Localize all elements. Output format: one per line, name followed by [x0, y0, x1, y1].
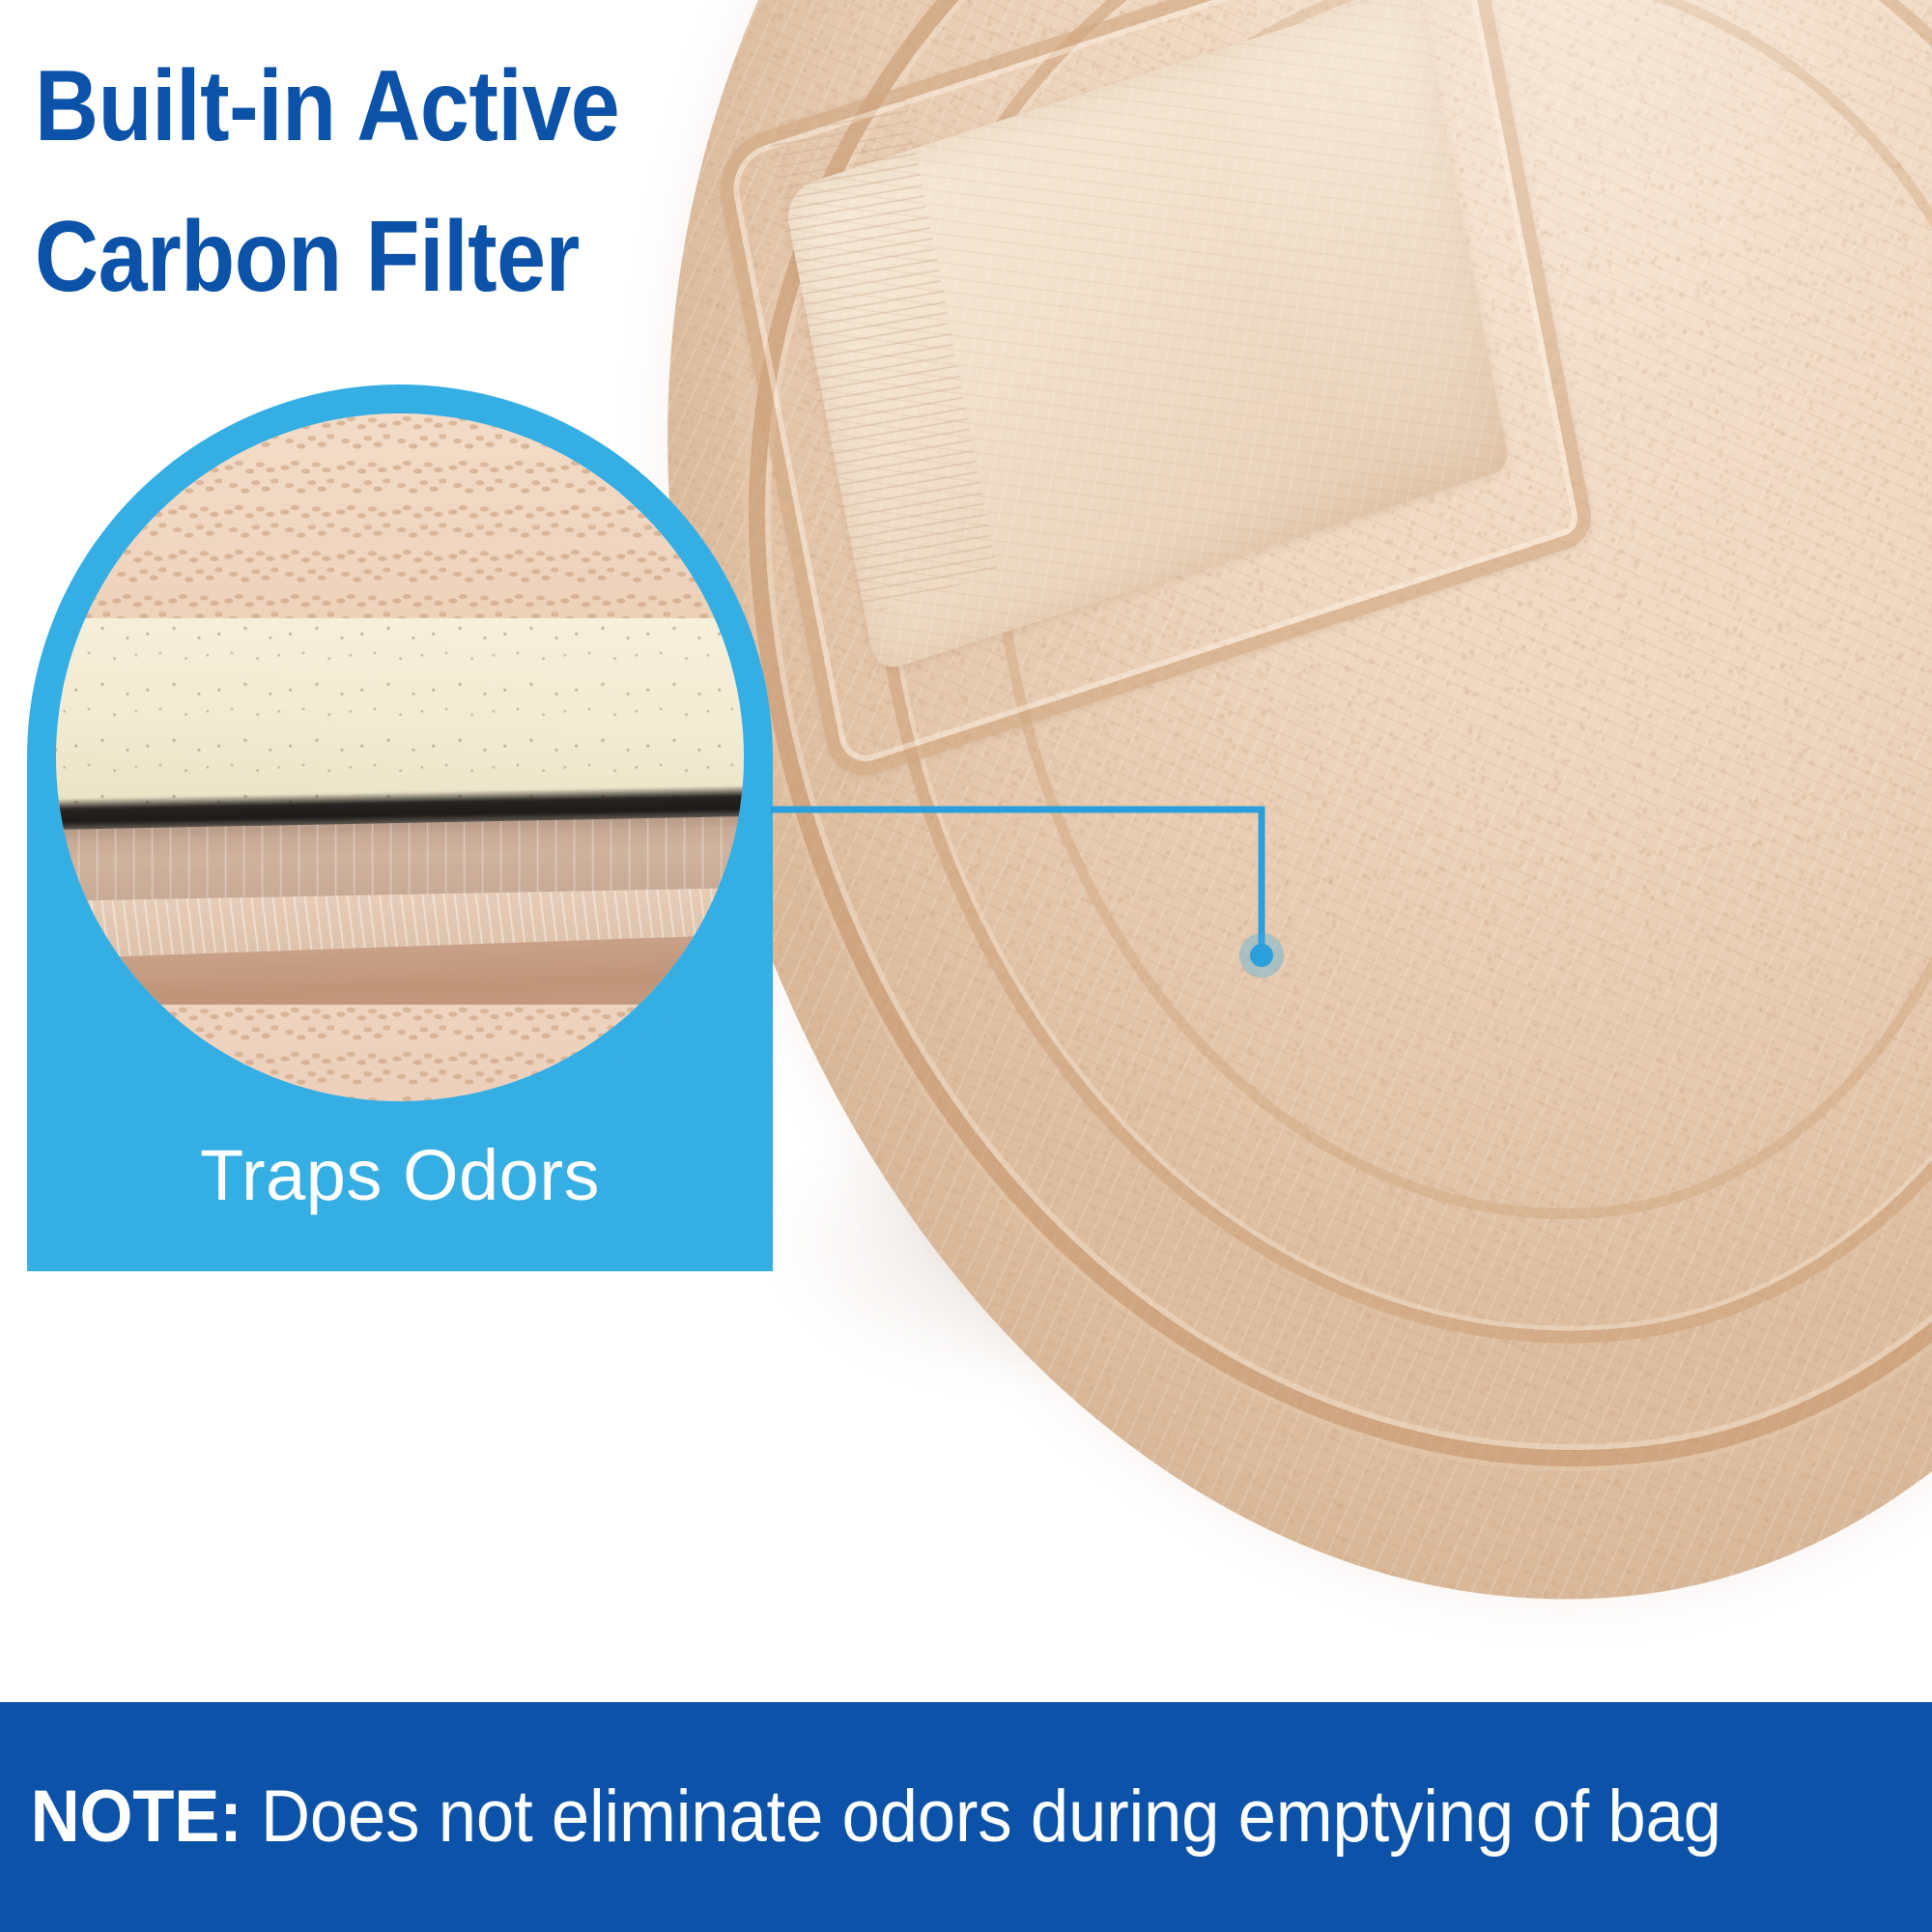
- cream-filter-medium-layer: [56, 618, 744, 804]
- note-banner: NOTE: Does not eliminate odors during em…: [0, 1702, 1932, 1932]
- page-title: Built-in Active Carbon Filter: [35, 31, 902, 332]
- filter-callout: Traps Odors: [27, 384, 773, 1271]
- top-nonwoven-layer: [56, 413, 744, 626]
- note-text: NOTE: Does not eliminate odors during em…: [0, 1780, 1721, 1854]
- bottom-nonwoven-layer: [56, 1005, 744, 1101]
- note-body: Does not eliminate odors during emptying…: [242, 1776, 1721, 1858]
- infographic-canvas: Built-in Active Carbon Filter Traps Odor…: [0, 0, 1932, 1932]
- filter-cross-section-photo: [56, 413, 744, 1101]
- callout-caption: Traps Odors: [27, 1140, 773, 1211]
- note-label: NOTE:: [31, 1776, 242, 1858]
- pointer-dot: [1250, 944, 1273, 967]
